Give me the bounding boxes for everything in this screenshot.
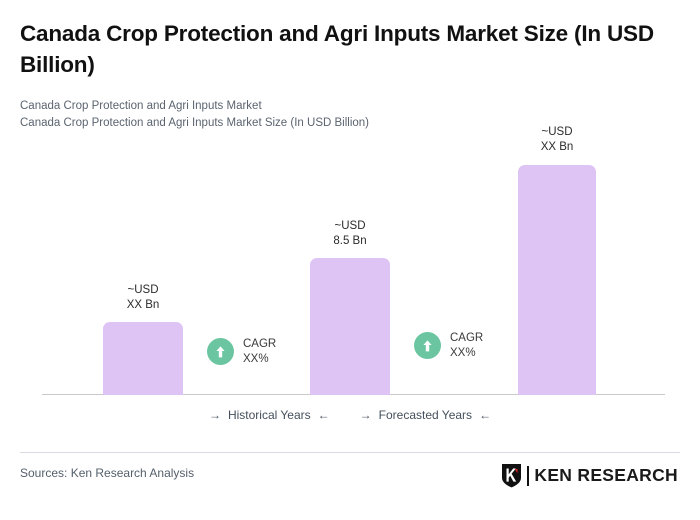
cagr-label-1: CAGR XX% [243,337,276,366]
brand-name: KEN RESEARCH [534,465,678,486]
logo-divider [527,466,529,486]
bar-2[interactable] [310,258,390,395]
bar-value-label-1: ~USD XX Bn [103,283,183,312]
cagr-badge-1: CAGR XX% [207,337,276,366]
arrow-right-icon: → [209,408,221,422]
chart-card: Canada Crop Protection and Agri Inputs M… [0,0,700,520]
bar-value-label-2: ~USD 8.5 Bn [310,219,390,248]
arrow-left-icon: ← [318,408,330,422]
cagr-badge-2: CAGR XX% [414,331,483,360]
bar-value-label-3: ~USD XX Bn [518,125,596,154]
arrow-up-icon [207,338,234,365]
period-forecasted-label: Forecasted Years [379,408,472,422]
cagr-label-2: CAGR XX% [450,331,483,360]
sources-text: Sources: Ken Research Analysis [20,466,194,480]
chart-subtitle-line-1: Canada Crop Protection and Agri Inputs M… [20,98,660,115]
ken-research-logo: KEN RESEARCH [501,463,678,488]
period-legend: → Historical Years ← → Forecasted Years … [0,408,700,422]
plot-area: ~USD XX Bn ~USD 8.5 Bn ~USD XX Bn CAGR X… [0,120,700,400]
shield-k-icon [501,463,522,488]
page-title: Canada Crop Protection and Agri Inputs M… [20,18,680,80]
bar-3[interactable] [518,165,596,395]
period-historical-label: Historical Years [228,408,311,422]
period-historical: → Historical Years ← [209,408,330,422]
bar-1[interactable] [103,322,183,395]
period-forecasted: → Forecasted Years ← [360,408,491,422]
arrow-up-icon [414,332,441,359]
footer-divider [20,452,680,453]
arrow-left-icon: ← [479,408,491,422]
arrow-right-icon: → [360,408,372,422]
